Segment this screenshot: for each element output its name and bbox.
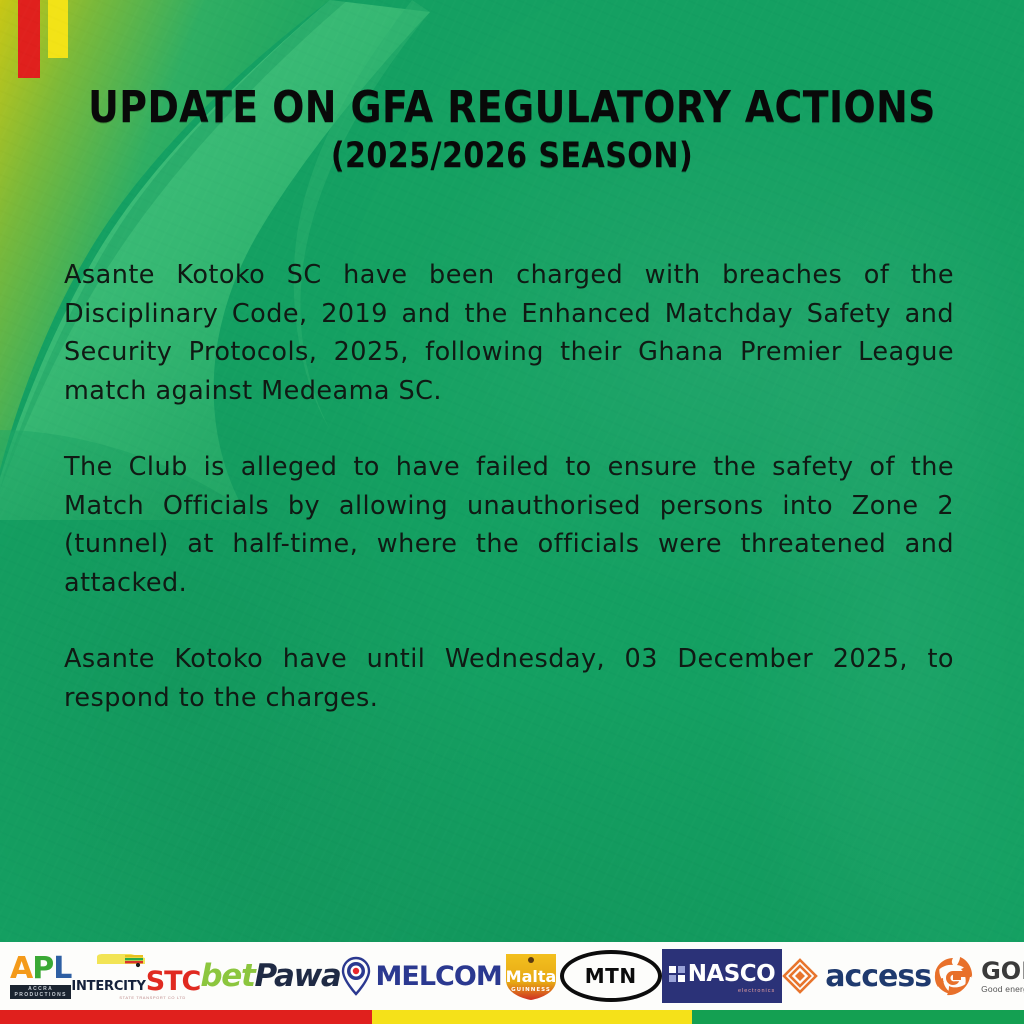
- flag-strip-yellow: [372, 1010, 693, 1024]
- body-copy: Asante Kotoko SC have been charged with …: [64, 256, 954, 717]
- sponsor-logo-betpawa[interactable]: betPawa: [200, 952, 340, 1000]
- poster-canvas: UPDATE ON GFA REGULATORY ACTIONS (2025/2…: [0, 0, 1024, 1024]
- stc-text: STC: [146, 966, 201, 997]
- ghana-flag-strip: [0, 1010, 1024, 1024]
- sponsor-logo-goil[interactable]: GOIL Good energy: [931, 952, 1024, 1000]
- malta-shield-icon: Malta GUINNESS: [502, 950, 560, 1002]
- flag-bar-red: [18, 0, 40, 78]
- headline-line-2: (2025/2026 SEASON): [72, 139, 953, 174]
- sponsor-logo-melcom[interactable]: MELCOM: [341, 952, 502, 1000]
- sponsor-logo-malta-guinness[interactable]: Malta GUINNESS: [502, 950, 560, 1002]
- betpawa-pawa-text: Pawa: [255, 958, 341, 994]
- apl-letter-l: L: [53, 954, 71, 984]
- sponsor-logo-access[interactable]: access: [782, 952, 931, 1000]
- apl-letter-a: A: [10, 954, 32, 984]
- svg-text:Malta: Malta: [505, 967, 556, 986]
- bus-icon: [95, 952, 153, 968]
- access-wordmark: access: [825, 959, 931, 994]
- betpawa-bet-text: bet: [200, 958, 254, 994]
- flag-strip-green: [692, 1010, 1024, 1024]
- mtn-oval: MTN: [560, 950, 662, 1002]
- sponsor-logo-intercity-stc[interactable]: INTERCITYSTC STATE TRANSPORT CO LTD: [71, 952, 200, 1000]
- goil-tagline: Good energy: [981, 985, 1024, 994]
- betpawa-wordmark: betPawa: [200, 958, 340, 994]
- headline-line-1: UPDATE ON GFA REGULATORY ACTIONS: [72, 86, 953, 130]
- paragraph-2: The Club is alleged to have failed to en…: [64, 448, 954, 602]
- nasco-row: NASCO: [669, 961, 776, 987]
- nasco-mark-icon: [669, 966, 685, 982]
- goil-wordmark: GOIL: [981, 959, 1024, 983]
- sponsor-logo-mtn[interactable]: MTN: [560, 952, 662, 1000]
- flag-bar-yellow: [48, 0, 68, 58]
- goil-swirl-icon: [931, 954, 975, 998]
- paragraph-1: Asante Kotoko SC have been charged with …: [64, 256, 954, 410]
- paragraph-3: Asante Kotoko have until Wednesday, 03 D…: [64, 640, 954, 717]
- access-diamond-icon: [782, 958, 818, 994]
- sponsor-logo-nasco[interactable]: NASCO electronics: [662, 949, 783, 1003]
- melcom-wordmark: MELCOM: [376, 961, 502, 992]
- flag-strip-red: [0, 1010, 372, 1024]
- apl-wordmark: APL: [10, 954, 71, 984]
- nasco-wordmark: NASCO: [688, 961, 776, 987]
- nasco-subtitle: electronics: [738, 988, 775, 994]
- mtn-wordmark: MTN: [585, 964, 637, 988]
- sponsor-bar: APL ACCRA PRODUCTIONS INTERCITYSTC STATE…: [0, 942, 1024, 1010]
- stc-subtitle: STATE TRANSPORT CO LTD: [119, 995, 186, 1000]
- stc-wordmark: INTERCITYSTC: [71, 966, 200, 997]
- page-title: UPDATE ON GFA REGULATORY ACTIONS (2025/2…: [0, 86, 1024, 174]
- stc-intercity-text: INTERCITY: [71, 979, 145, 994]
- apl-subtitle: ACCRA PRODUCTIONS: [10, 985, 71, 999]
- apl-letter-p: P: [32, 954, 53, 984]
- melcom-pin-icon: [341, 956, 371, 996]
- sponsor-logo-apl[interactable]: APL ACCRA PRODUCTIONS: [10, 952, 71, 1000]
- svg-text:GUINNESS: GUINNESS: [511, 987, 551, 993]
- goil-text-block: GOIL Good energy: [981, 959, 1024, 994]
